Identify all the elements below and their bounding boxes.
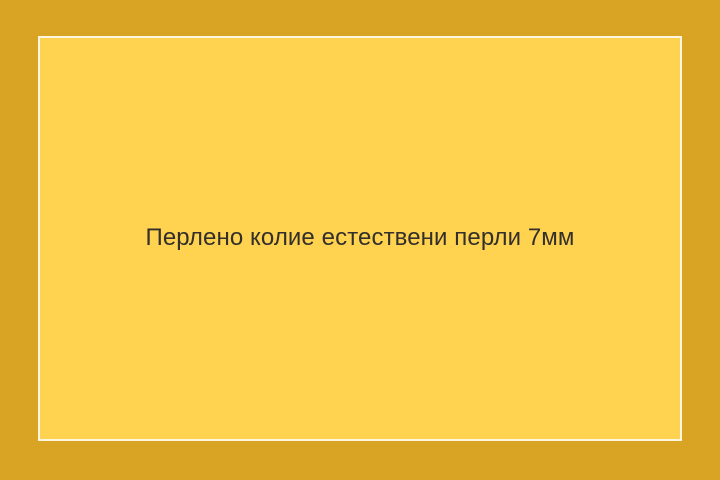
placeholder-canvas: Перлено колие естествени перли 7мм <box>0 0 720 480</box>
product-title-caption: Перлено колие естествени перли 7мм <box>129 224 590 253</box>
placeholder-panel: Перлено колие естествени перли 7мм <box>38 36 682 441</box>
